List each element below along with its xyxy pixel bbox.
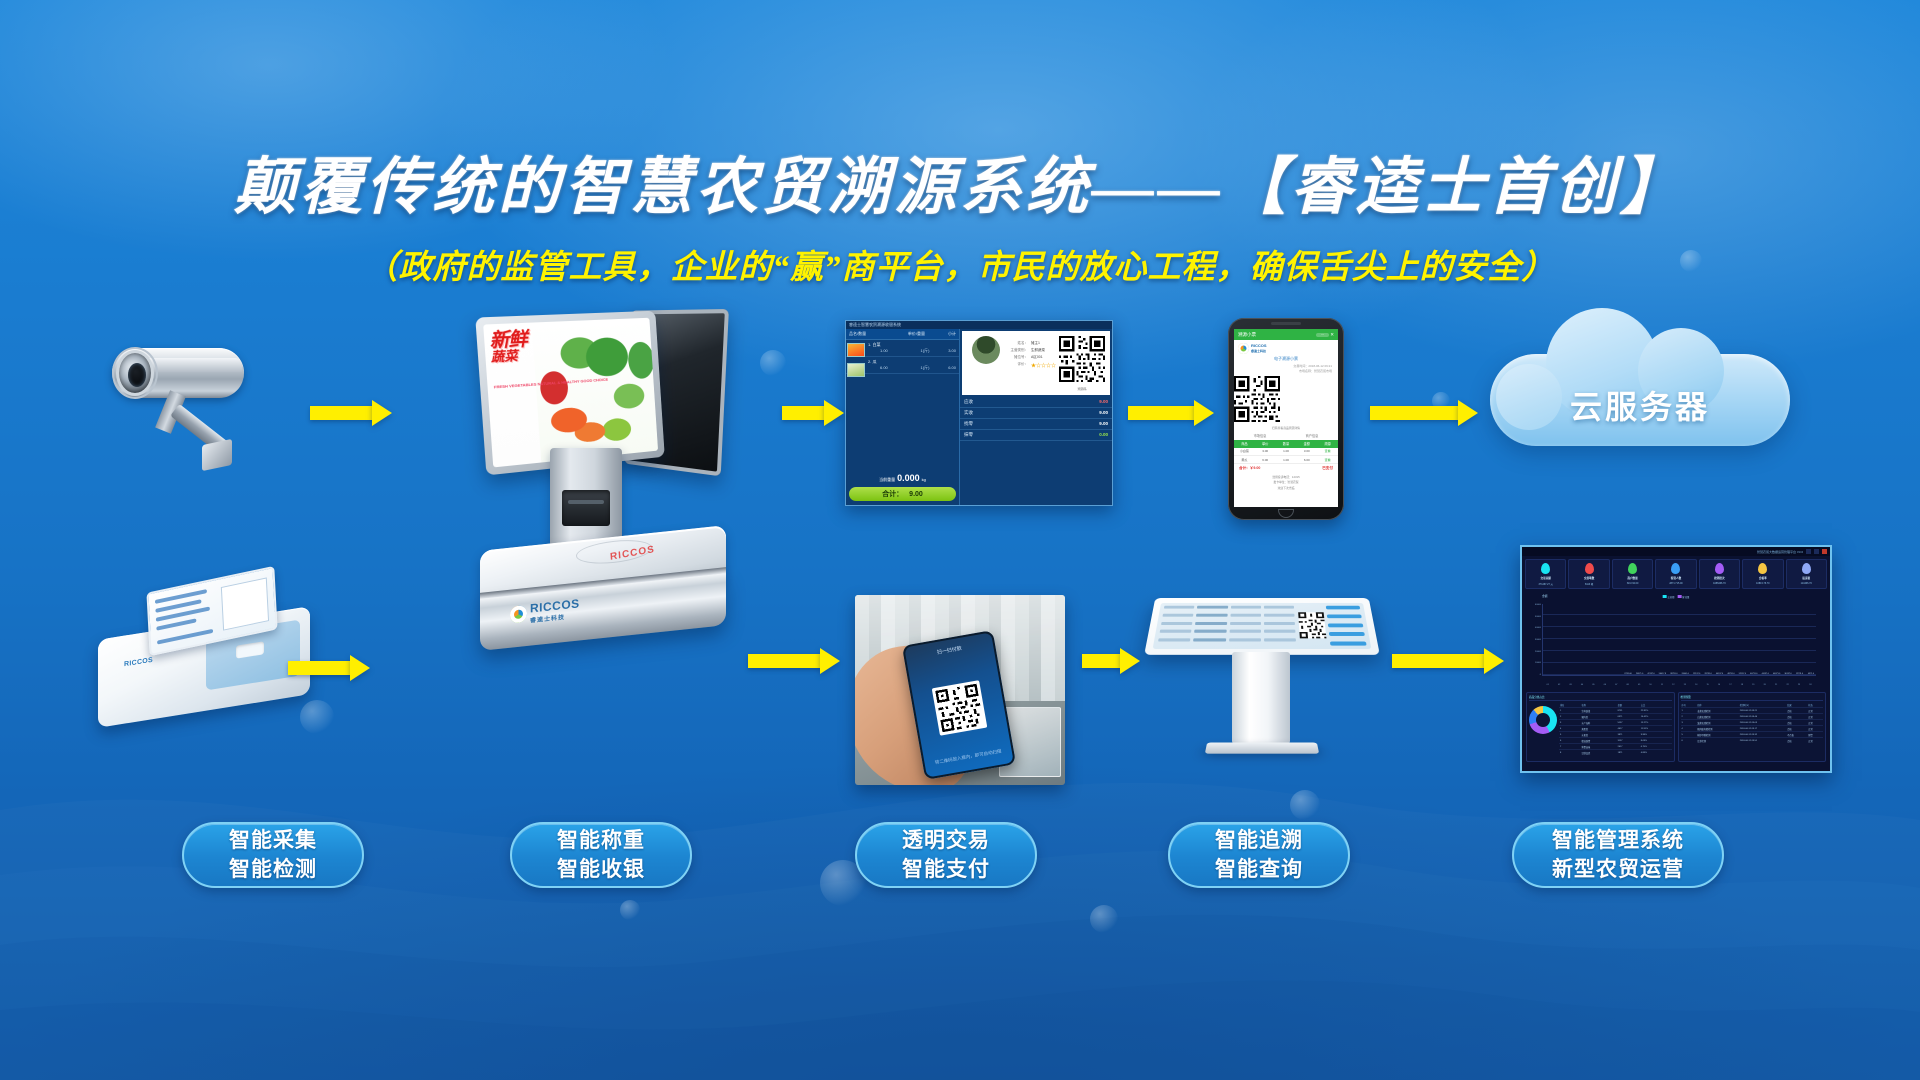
kiosk-qr-code-icon	[1298, 606, 1328, 646]
pos-software-screenshot[interactable]: 睿逵士智慧农贸溯源收银系统 品名/数量 单价/重量 小计 1. 白菜 1.00 …	[845, 320, 1113, 506]
pos-summary-row: 实收 9.00	[960, 408, 1112, 419]
kpi-card[interactable]: 商户数量 SKU 62.00	[1612, 559, 1653, 589]
chart-y-tick: 20000	[1535, 651, 1541, 653]
pos-item-thumbnail	[847, 363, 865, 377]
chart-x-tick: 20	[1759, 684, 1770, 686]
phone-table-header: 商品 单价 数量 金额 溯源	[1234, 440, 1338, 448]
chart-x-tick: 03	[1565, 684, 1576, 686]
pill-line-2: 智能收银	[557, 855, 645, 884]
pos-item-amount: 6.00	[934, 365, 956, 371]
arrow-payment-to-kiosk	[1082, 648, 1140, 674]
phone-cell: 6.00	[1255, 456, 1276, 463]
table-cell: 6	[1681, 738, 1697, 744]
kpi-value: SKU 62.00	[1627, 582, 1639, 585]
phone-header-menu-icon[interactable]: ···	[1316, 333, 1329, 337]
pos-software-titlebar: 睿逵士智慧农贸溯源收银系统	[846, 321, 1112, 329]
pos-total-value: 9.00	[909, 491, 923, 498]
pos-summary-rows: 应收 9.00 实收 9.00 找零 9.00 抹零 0.00	[960, 397, 1112, 505]
phone-brand-logo: RICCOS 睿逵士科技	[1234, 340, 1338, 355]
kpi-value: 2871 715.00	[1669, 582, 1682, 585]
phone-total-right: 已支付	[1322, 466, 1333, 471]
chart-bar-label: 8731.00	[1625, 673, 1632, 675]
stage-label-collection[interactable]: 智能采集 智能检测	[182, 822, 364, 888]
pos-receipt-printer	[562, 490, 610, 526]
page-subtitle: （政府的监管工具，企业的“赢”商平台，市民的放心工程，确保舌尖上的安全）	[0, 240, 1920, 288]
dashboard-category-panel: 商品分类占比 排名名称金额占比1生鲜蔬菜873122.81%2猪肉类637116…	[1526, 692, 1675, 762]
merchant-avatar	[972, 336, 1000, 364]
phone-total-left: 合计：￥9.00	[1239, 466, 1260, 471]
stage-label-management[interactable]: 智能管理系统 新型农贸运营	[1512, 822, 1724, 888]
kpi-card[interactable]: 检测批次 1086466.70	[1699, 559, 1740, 589]
arrow-scale-to-payment	[748, 648, 840, 674]
pos-merchant-panel: 姓名：摊主1 主营类别：生鲜蔬菜 摊位号：A区001 评价：★☆☆☆☆	[960, 329, 1112, 505]
merchant-qr-code-icon	[1059, 336, 1105, 382]
phone-earpiece	[1271, 322, 1301, 325]
chart-x-tick: 21	[1770, 684, 1781, 686]
merchant-field-value: A区001	[1031, 355, 1043, 360]
kiosk-cell	[1197, 606, 1228, 609]
pos-merchant-card: 姓名：摊主1 主营类别：生鲜蔬菜 摊位号：A区001 评价：★☆☆☆☆	[962, 331, 1110, 395]
riccos-logo-icon	[1238, 343, 1249, 354]
phone-cell-link[interactable]: 查看	[1317, 448, 1338, 455]
kiosk-cell	[1264, 622, 1295, 625]
kpi-value: 8113 笔	[1585, 582, 1593, 586]
chart-x-tick: 10	[1645, 684, 1656, 686]
pill-line-1: 智能采集	[229, 826, 317, 855]
self-service-query-kiosk	[1150, 588, 1374, 770]
kiosk-cell	[1264, 638, 1296, 641]
kiosk-cell	[1164, 606, 1195, 609]
merchant-rating-stars: ★☆☆☆☆	[1031, 362, 1056, 369]
phone-footer-line: 欢迎下次光临	[1234, 486, 1338, 491]
chart-axis-title: 金额	[1542, 594, 1548, 598]
kiosk-touchscreen[interactable]	[1144, 598, 1380, 655]
dashboard-titlebar: 智慧农贸大数据运营管理平台 V3.0	[1522, 547, 1830, 556]
pos-cart-col-1: 单价/重量	[895, 331, 938, 337]
management-dashboard-screen[interactable]: 智慧农贸大数据运营管理平台 V3.0 交易总额 371467.27 元 交易笔数…	[1520, 545, 1832, 773]
phone-meta-market: 市场名称：智慧农贸市场	[1234, 369, 1338, 374]
camera-base	[202, 439, 232, 471]
pos-summary-label: 找零	[964, 421, 973, 427]
close-icon[interactable]: ✕	[1330, 332, 1334, 337]
scan-hint-top: 扫一扫付款	[903, 639, 995, 662]
merchant-qr-caption: 溯源码	[1056, 387, 1108, 391]
chart-bar-label: 30137.0	[1784, 673, 1791, 675]
pos-weight-unit: kg	[922, 477, 926, 482]
camera-body	[112, 348, 244, 398]
pos-summary-label: 抹零	[964, 432, 973, 438]
phone-qr-caption: 扫码查看商品溯源详情	[1234, 425, 1338, 433]
pill-line-2: 智能支付	[902, 855, 990, 884]
kiosk-action-button[interactable]	[1326, 606, 1360, 610]
phone-footer: 监督投诉电话：12315 发卡单位：智慧农贸 欢迎下次光临	[1234, 473, 1338, 493]
phone-header-title: 溯源小票	[1238, 332, 1256, 338]
phone-cell: 黄瓜	[1234, 456, 1255, 463]
phone-table-row: 黄瓜 6.00 1.00 6.00 查看	[1234, 456, 1338, 464]
phone-th-0: 商品	[1234, 440, 1255, 448]
pos-item-amount: 3.00	[934, 348, 956, 354]
pos-item-qty: 1.00	[880, 348, 916, 354]
pill-line-2: 智能检测	[229, 855, 317, 884]
dashboard-window-title: 智慧农贸大数据运营管理平台 V3.0	[1757, 550, 1803, 554]
phone-table-row: 小白菜 3.00 1.00 3.00 查看	[1234, 448, 1338, 456]
kpi-label: 客流人数	[1671, 576, 1681, 580]
chart-y-tick: 50000	[1535, 616, 1541, 618]
page-title: 颠覆传统的智慧农贸溯源系统——【睿逵士首创】	[0, 136, 1920, 226]
chart-x-tick: 22	[1782, 684, 1793, 686]
table-cell: 豆芽检测	[1696, 738, 1739, 744]
kpi-card[interactable]: 投诉量 114466.70	[1786, 559, 1827, 589]
kpi-value: 1086466.70	[1713, 582, 1726, 585]
legend-label: 交易额	[1667, 596, 1674, 599]
chart-x-tick: 15	[1702, 684, 1713, 686]
pos-item-name: 瓜	[872, 359, 876, 364]
phone-cell: 1.00	[1276, 456, 1297, 463]
arrow-phone-to-cloud	[1370, 400, 1478, 426]
pos-summary-row: 抹零 0.00	[960, 430, 1112, 441]
pos-software-body: 品名/数量 单价/重量 小计 1. 白菜 1.00 1(斤) 3.00 2. 瓜	[846, 329, 1112, 505]
kpi-label: 检测批次	[1714, 576, 1724, 580]
chart-y-tick: 10000	[1535, 662, 1541, 664]
arrow-camera-to-pos	[310, 400, 392, 426]
pos-item-unit: 1(斤)	[916, 348, 934, 354]
pos-cart-col-2: 小计	[938, 331, 956, 337]
chart-bar-label: 46371.0	[1773, 673, 1780, 675]
chart-y-tick: 0	[1540, 674, 1541, 676]
chart-bar-label: 42137.0	[1647, 673, 1654, 675]
arrow-detector-to-scale	[288, 655, 370, 681]
phone-cell: 小白菜	[1234, 448, 1255, 455]
phone-th-1: 单价	[1255, 440, 1276, 448]
detector-display-row	[157, 629, 213, 645]
table-row[interactable]: 6豆芽检测2018-06-12 09:51合格正常	[1681, 738, 1824, 744]
kpi-pin-icon	[1541, 563, 1550, 574]
merchant-field-key: 评价：	[1008, 362, 1028, 369]
kpi-pin-icon	[1671, 563, 1680, 574]
pos-item-no: 1.	[868, 342, 871, 347]
pos-weight-value: 0.000	[897, 473, 920, 483]
kpi-card[interactable]: 合格率 1089 176.70	[1742, 559, 1783, 589]
chart-x-tick: 04	[1576, 684, 1587, 686]
dashboard-kpi-row: 交易总额 371467.27 元 交易笔数 8113 笔 商户数量 SKU 62…	[1522, 556, 1830, 592]
chart-y-tick: 60000	[1535, 604, 1541, 606]
pos-cart-panel: 品名/数量 单价/重量 小计 1. 白菜 1.00 1(斤) 3.00 2. 瓜	[846, 329, 960, 505]
table-cell: 合格	[1786, 738, 1807, 744]
kiosk-cell	[1196, 614, 1227, 617]
chart-y-tick: 30000	[1535, 639, 1541, 641]
chart-x-tick: 02	[1553, 684, 1564, 686]
kpi-pin-icon	[1802, 563, 1811, 574]
phone-sub-label-market: 市场信息	[1254, 433, 1267, 438]
legend-swatch	[1678, 595, 1682, 598]
maximize-icon[interactable]	[1814, 549, 1819, 554]
kiosk-category-grid	[1157, 606, 1296, 646]
phone-screen[interactable]: 溯源小票 ··· ✕ RICCOS 睿逵士科技 电子溯源小票 交易时间：2018…	[1234, 329, 1338, 507]
pos-weight-label: 当前重量	[879, 477, 895, 482]
chart-bar-label: 22137.0	[1693, 673, 1700, 675]
pos-item-unit: 1(斤)	[916, 365, 934, 371]
kiosk-cell	[1264, 630, 1296, 633]
kpi-pin-icon	[1715, 563, 1724, 574]
merchant-field-key: 摊位号：	[1008, 355, 1028, 360]
chart-bar-label: 56417.8	[1659, 673, 1666, 675]
kpi-value: 1089 176.70	[1756, 582, 1769, 585]
merchant-fields: 姓名：摊主1 主营类别：生鲜蔬菜 摊位号：A区001 评价：★☆☆☆☆	[1008, 333, 1056, 393]
pos-summary-label: 实收	[964, 410, 973, 416]
kpi-label: 投诉量	[1802, 576, 1810, 580]
kpi-value: 114466.70	[1801, 582, 1812, 585]
chart-x-tick: 05	[1588, 684, 1599, 686]
chart-x-tick: 14	[1690, 684, 1701, 686]
inspection-table: 序号名称检测时间结果状态1韭菜农残检测2018-06-12 08:21合格正常2…	[1681, 702, 1824, 743]
ip-camera-device	[98, 330, 298, 480]
pos-item-name: 白菜	[872, 342, 880, 347]
chart-y-axis: 6000050000400003000020000100000	[1526, 604, 1541, 676]
kpi-value: 371467.27 元	[1539, 582, 1553, 586]
chart-x-tick: 18	[1736, 684, 1747, 686]
pos-cart-col-0: 品名/数量	[849, 331, 895, 337]
chart-bar-label: 12731.0	[1796, 673, 1803, 675]
phone-logo-text: RICCOS	[1251, 343, 1267, 348]
pill-line-1: 智能追溯	[1215, 826, 1303, 855]
pill-line-1: 智能管理系统	[1552, 826, 1684, 855]
pos-summary-value: 9.00	[1099, 410, 1108, 416]
scan-frame	[932, 680, 988, 736]
kiosk-action-button[interactable]	[1329, 632, 1365, 636]
table-cell: 1871	[1617, 750, 1640, 756]
kiosk-cell	[1158, 638, 1191, 641]
kiosk-action-buttons[interactable]	[1326, 606, 1367, 646]
kiosk-base	[1205, 743, 1319, 754]
chart-x-axis: 0102030405060708091011121314151617181920…	[1542, 684, 1816, 686]
chart-x-tick: 08	[1622, 684, 1633, 686]
chart-bar-label: 4371.0	[1808, 673, 1814, 675]
pos-weight-readout: 当前重量 0.000 kg	[846, 473, 959, 483]
pill-line-2: 新型农贸运营	[1552, 855, 1684, 884]
merchant-field-value: 生鲜蔬菜	[1031, 348, 1045, 353]
chart-x-tick: 13	[1679, 684, 1690, 686]
chart-bar-label: 26371.0	[1636, 673, 1643, 675]
kpi-pin-icon	[1758, 563, 1767, 574]
phone-cell-link[interactable]: 查看	[1317, 456, 1338, 463]
table-cell: 4.83%	[1640, 750, 1672, 756]
dashboard-bottom-panels: 商品分类占比 排名名称金额占比1生鲜蔬菜873122.81%2猪肉类637116…	[1522, 690, 1830, 762]
chart-x-tick: 19	[1748, 684, 1759, 686]
table-cell: 8	[1559, 750, 1580, 756]
phone-total-row: 合计：￥9.00 已支付	[1234, 464, 1338, 473]
phone-sub-labels: 市场信息 商户信息	[1234, 433, 1338, 440]
pos-summary-value: 9.00	[1099, 399, 1108, 405]
kiosk-stand	[1232, 652, 1290, 744]
chart-x-tick: 16	[1713, 684, 1724, 686]
pill-line-1: 透明交易	[902, 826, 990, 855]
merchant-field-key: 主营类别：	[1008, 348, 1028, 353]
chart-x-tick: 12	[1668, 684, 1679, 686]
minimize-icon[interactable]	[1806, 549, 1811, 554]
arrow-possoft-to-phone	[1128, 400, 1214, 426]
pos-summary-value: 9.00	[1099, 421, 1108, 427]
pos-total-button[interactable]: 合计： 9.00	[849, 487, 956, 501]
panel-title: 检测预警	[1681, 695, 1824, 701]
kpi-label: 交易总额	[1541, 576, 1551, 580]
kiosk-cell	[1162, 614, 1193, 617]
stage-label-weighing[interactable]: 智能称重 智能收银	[510, 822, 692, 888]
pos-item-no: 2.	[868, 359, 871, 364]
chart-plot-area: 8731.0026371.042137.056417.838731.026401…	[1542, 604, 1816, 676]
arrow-kiosk-to-dashboard	[1392, 648, 1504, 674]
chart-bar-label: 44137.0	[1762, 673, 1769, 675]
phone-doc-title: 电子溯源小票	[1234, 355, 1338, 364]
kiosk-action-button[interactable]	[1330, 642, 1367, 646]
chart-gridlines	[1543, 604, 1816, 675]
legend-swatch	[1663, 595, 1667, 598]
kiosk-cell	[1193, 638, 1225, 641]
chart-bar-label: 52137.0	[1739, 673, 1746, 675]
stage-label-traceability[interactable]: 智能追溯 智能查询	[1168, 822, 1350, 888]
chart-x-tick: 07	[1611, 684, 1622, 686]
table-cell: 2018-06-12 09:51	[1739, 738, 1786, 744]
kpi-card[interactable]: 交易总额 371467.27 元	[1525, 559, 1566, 589]
kpi-card[interactable]: 客流人数 2871 715.00	[1655, 559, 1696, 589]
kpi-label: 交易笔数	[1584, 576, 1594, 580]
arrow-pos-to-possoft	[782, 400, 844, 426]
pos-item-thumbnail	[847, 343, 865, 357]
receipt-qr-code-icon	[1234, 376, 1280, 422]
pos-summary-row: 找零 9.00	[960, 419, 1112, 430]
phone-app-header: 溯源小票 ··· ✕	[1234, 329, 1338, 340]
table-cell: 正常	[1807, 738, 1823, 744]
chart-x-tick: 01	[1542, 684, 1553, 686]
phone-sub-label-merchant: 商户信息	[1306, 433, 1319, 438]
stage-label-transaction[interactable]: 透明交易 智能支付	[855, 822, 1037, 888]
kiosk-cell	[1161, 622, 1193, 625]
category-donut-chart	[1529, 706, 1557, 734]
chart-legend: 交易额 客流量	[1663, 595, 1690, 599]
chart-bar-label: 38731.0	[1670, 673, 1677, 675]
kpi-card[interactable]: 交易笔数 8113 笔	[1568, 559, 1609, 589]
pos-ad-headline: 新鲜 蔬菜	[489, 330, 553, 364]
riccos-logo-icon	[510, 605, 527, 624]
chart-x-tick: 11	[1656, 684, 1667, 686]
kpi-label: 商户数量	[1627, 576, 1637, 580]
pill-line-2: 智能查询	[1215, 855, 1303, 884]
cloud-server-node: 云服务器	[1490, 320, 1800, 465]
chart-x-tick: 06	[1599, 684, 1610, 686]
phone-cell: 3.00	[1296, 448, 1317, 455]
smartphone-device: 溯源小票 ··· ✕ RICCOS 睿逵士科技 电子溯源小票 交易时间：2018…	[1228, 318, 1344, 520]
table-cell: 豆制品类	[1580, 750, 1616, 756]
kiosk-cell	[1264, 614, 1295, 617]
chart-bar-label: 46731.0	[1750, 673, 1757, 675]
chart-x-tick: 23	[1793, 684, 1804, 686]
category-table: 排名名称金额占比1生鲜蔬菜873122.81%2猪肉类637116.42%3水产…	[1559, 702, 1672, 755]
pos-cart-header: 品名/数量 单价/重量 小计	[846, 329, 959, 340]
pos-summary-value: 0.00	[1099, 432, 1108, 438]
phone-cell: 6.00	[1296, 456, 1317, 463]
legend-label: 客流量	[1682, 596, 1689, 599]
phone-cell: 1.00	[1276, 448, 1297, 455]
dashboard-inspection-panel: 检测预警 序号名称检测时间结果状态1韭菜农残检测2018-06-12 08:21…	[1678, 692, 1827, 762]
table-row[interactable]: 8豆制品类18714.83%	[1559, 750, 1672, 756]
camera-lens-ring	[112, 347, 158, 399]
detector-display-panel	[221, 577, 269, 630]
kpi-label: 合格率	[1759, 576, 1767, 580]
chart-x-tick: 09	[1633, 684, 1644, 686]
kpi-pin-icon	[1628, 563, 1637, 574]
kiosk-cell	[1195, 622, 1226, 625]
kiosk-cell	[1160, 630, 1192, 633]
chart-x-tick: 17	[1725, 684, 1736, 686]
pos-item-qty: 6.00	[880, 365, 916, 371]
chart-y-tick: 40000	[1535, 627, 1541, 629]
kiosk-action-button[interactable]	[1327, 614, 1362, 618]
chart-bar-label: 40137.0	[1716, 673, 1723, 675]
mobile-payment-photo: 扫一扫付款 将二维码放入框内，即可自动扫描	[855, 595, 1065, 785]
kiosk-screen-content	[1153, 603, 1372, 649]
phone-logo-sub: 睿逵士科技	[1251, 349, 1266, 353]
close-icon[interactable]	[1822, 549, 1827, 554]
dual-screen-pos-scale-device: 新鲜 蔬菜 FRESH VEGETABLES NATURAL & HEALTHY…	[470, 300, 780, 760]
phone-th-4: 溯源	[1317, 440, 1338, 448]
phone-th-2: 数量	[1276, 440, 1297, 448]
cloud-server-label: 云服务器	[1490, 382, 1790, 428]
payment-qr-code-icon	[935, 683, 984, 732]
kiosk-cell	[1264, 606, 1294, 609]
kiosk-cell	[1194, 630, 1226, 633]
kiosk-right-panel	[1298, 606, 1367, 646]
pos-summary-row: 应收 9.00	[960, 397, 1112, 408]
kiosk-cell	[1230, 614, 1261, 617]
phone-home-button[interactable]	[1278, 509, 1294, 518]
pos-summary-label: 应收	[964, 399, 973, 405]
phone-th-3: 金额	[1296, 440, 1317, 448]
pos-advertisement: 新鲜 蔬菜 FRESH VEGETABLES NATURAL & HEALTHY…	[483, 318, 658, 468]
scan-hint-bottom: 将二维码放入框内，即可自动扫描	[922, 746, 1014, 768]
kiosk-cell	[1229, 638, 1261, 641]
kiosk-cell	[1229, 630, 1261, 633]
panel-title: 商品分类占比	[1529, 695, 1672, 701]
chart-bar-label: 48731.0	[1727, 673, 1734, 675]
kiosk-action-button[interactable]	[1328, 623, 1364, 627]
merchant-field-value: 摊主1	[1031, 341, 1040, 346]
phone-cell: 3.00	[1255, 448, 1276, 455]
chart-bar-label: 28731.0	[1704, 673, 1711, 675]
kpi-pin-icon	[1585, 563, 1594, 574]
kiosk-cell	[1230, 606, 1260, 609]
chart-bar-label: 26401.0	[1682, 673, 1689, 675]
pos-total-label: 合计：	[882, 489, 903, 499]
pill-line-1: 智能称重	[557, 826, 645, 855]
merchant-field-key: 姓名：	[1008, 341, 1028, 346]
chart-x-tick: 24	[1805, 684, 1816, 686]
kiosk-cell	[1230, 622, 1261, 625]
dashboard-bar-chart: 金额 交易额 客流量 60000500004000030000200001000…	[1526, 594, 1826, 690]
